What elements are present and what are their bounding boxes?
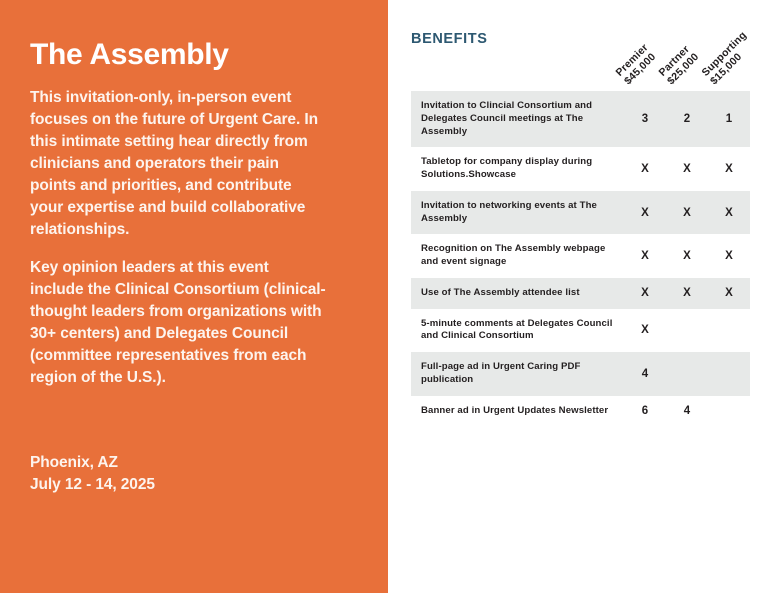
benefit-label: Full-page ad in Urgent Caring PDF public… [411,352,624,396]
tier-header-partner: Partner $25,000 [656,43,701,88]
event-dates: July 12 - 14, 2025 [30,474,155,496]
benefit-value-tier-1: X [624,278,666,309]
benefit-value-tier-3: X [708,147,750,191]
benefit-value-tier-2: X [666,191,708,235]
benefit-label: Invitation to Clincial Consortium and De… [411,91,624,147]
benefit-value-tier-1: X [624,234,666,278]
benefit-label: Tabletop for company display during Solu… [411,147,624,191]
benefit-value-tier-1: X [624,191,666,235]
benefit-value-tier-3: X [708,278,750,309]
benefit-value-tier-1: 6 [624,396,666,427]
benefit-label: Banner ad in Urgent Updates Newsletter [411,396,624,427]
event-location: Phoenix, AZ [30,452,155,474]
benefit-value-tier-1: X [624,147,666,191]
table-row: Tabletop for company display during Solu… [411,147,750,191]
benefit-value-tier-1: X [624,309,666,353]
benefit-value-tier-2: X [666,147,708,191]
benefit-value-tier-2: X [666,278,708,309]
event-description-paragraph-1: This invitation-only, in-person event fo… [30,87,326,241]
tier-header-supporting: Supporting $15,000 [699,29,758,88]
benefit-label: Use of The Assembly attendee list [411,278,624,309]
benefit-value-tier-3 [708,309,750,353]
event-location-block: Phoenix, AZ July 12 - 14, 2025 [30,452,155,496]
benefit-value-tier-3: X [708,234,750,278]
event-info-panel: The Assembly This invitation-only, in-pe… [0,0,388,593]
benefit-label: 5-minute comments at Delegates Council a… [411,309,624,353]
benefits-table-body: Invitation to Clincial Consortium and De… [411,91,750,426]
table-row: Invitation to networking events at The A… [411,191,750,235]
event-description-paragraph-2: Key opinion leaders at this event includ… [30,257,326,389]
page-title: The Assembly [30,38,350,71]
table-row: Full-page ad in Urgent Caring PDF public… [411,352,750,396]
benefit-value-tier-3: 1 [708,91,750,147]
benefit-value-tier-2: 4 [666,396,708,427]
benefit-value-tier-1: 4 [624,352,666,396]
table-row: 5-minute comments at Delegates Council a… [411,309,750,353]
benefit-value-tier-2 [666,309,708,353]
benefit-value-tier-2: 2 [666,91,708,147]
table-row: Use of The Assembly attendee listXXX [411,278,750,309]
tier-header-row: Premier $45,000 Partner $25,000 Supporti… [388,0,768,91]
benefit-value-tier-3: X [708,191,750,235]
table-row: Invitation to Clincial Consortium and De… [411,91,750,147]
benefits-panel: BENEFITS Premier $45,000 Partner $25,000… [388,0,768,593]
benefit-value-tier-2: X [666,234,708,278]
sponsorship-benefits-page: The Assembly This invitation-only, in-pe… [0,0,768,593]
benefit-value-tier-2 [666,352,708,396]
benefit-value-tier-1: 3 [624,91,666,147]
benefit-label: Recognition on The Assembly webpage and … [411,234,624,278]
table-row: Recognition on The Assembly webpage and … [411,234,750,278]
tier-header-premier: Premier $45,000 [613,42,659,88]
benefit-value-tier-3 [708,352,750,396]
benefit-value-tier-3 [708,396,750,427]
benefits-table: Invitation to Clincial Consortium and De… [411,91,750,426]
benefit-label: Invitation to networking events at The A… [411,191,624,235]
table-row: Banner ad in Urgent Updates Newsletter64 [411,396,750,427]
